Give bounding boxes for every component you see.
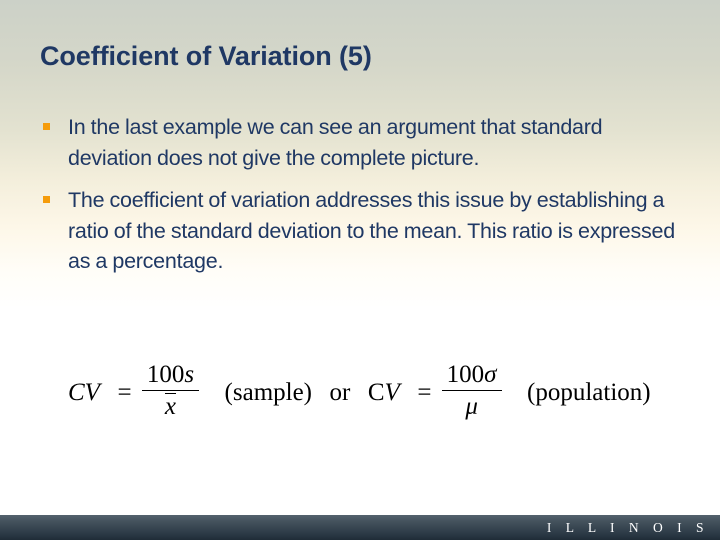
mu-symbol: μ [442,391,502,422]
formula-sample-lhs: CV [68,379,100,407]
square-bullet-icon [43,123,50,130]
formula-population-lhs-v: V [385,379,400,407]
formula-population-label: (population) [527,379,651,407]
formula-population-equals: = [417,379,431,407]
illinois-brand-wordmark: I L L I N O I S [547,519,709,536]
formula-connector: or [330,379,351,407]
formula-sample-label: (sample) [225,379,312,407]
bullet-list: In the last example we can see an argume… [40,112,680,289]
list-item-text: In the last example we can see an argume… [68,115,602,170]
page-title: Coefficient of Variation (5) [40,42,680,72]
formula-equation: CV = 100s x (sample) or CV = 100σ μ (pop… [68,362,651,423]
formula-sample-numerator: 100s [142,361,199,391]
formula-population-lhs-c: C [368,379,385,407]
formula-sample-equals: = [117,379,131,407]
slide-canvas: Coefficient of Variation (5) In the last… [0,0,720,540]
list-item-text: The coefficient of variation addresses t… [68,188,675,273]
formula-sample-denominator: x [142,391,199,422]
square-bullet-icon [43,196,50,203]
formula-sample-fraction: 100s x [142,361,199,422]
list-item: In the last example we can see an argume… [40,112,680,173]
formula-population-numerator-number: 100 [447,361,485,388]
sigma-symbol: σ [484,361,496,388]
formula-population-numerator: 100σ [442,361,502,391]
list-item: The coefficient of variation addresses t… [40,185,680,277]
formula-population-fraction: 100σ μ [442,361,502,422]
footer-bar: I L L I N O I S [0,515,720,540]
